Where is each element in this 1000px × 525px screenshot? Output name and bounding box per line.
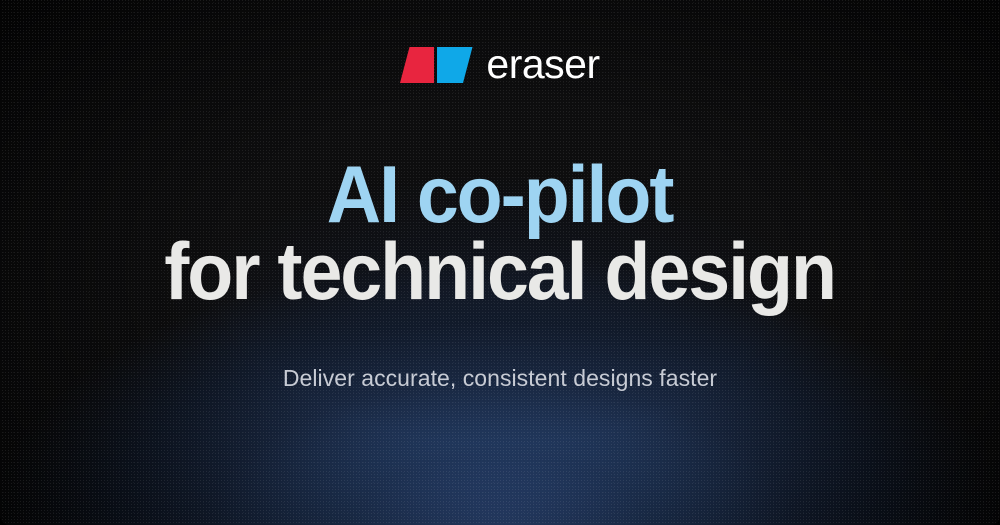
hero-content: eraser AI co-pilot for technical design … — [0, 0, 1000, 525]
brand-logo[interactable]: eraser — [400, 44, 599, 85]
headline-line-2: for technical design — [165, 234, 836, 311]
headline-line-1: AI co-pilot — [165, 157, 836, 234]
brand-wordmark: eraser — [486, 44, 599, 85]
hero-subtitle: Deliver accurate, consistent designs fas… — [283, 365, 717, 392]
hero-slide: eraser AI co-pilot for technical design … — [0, 0, 1000, 525]
hero-headline: AI co-pilot for technical design — [165, 157, 836, 311]
eraser-logo-mark-icon — [400, 47, 473, 83]
